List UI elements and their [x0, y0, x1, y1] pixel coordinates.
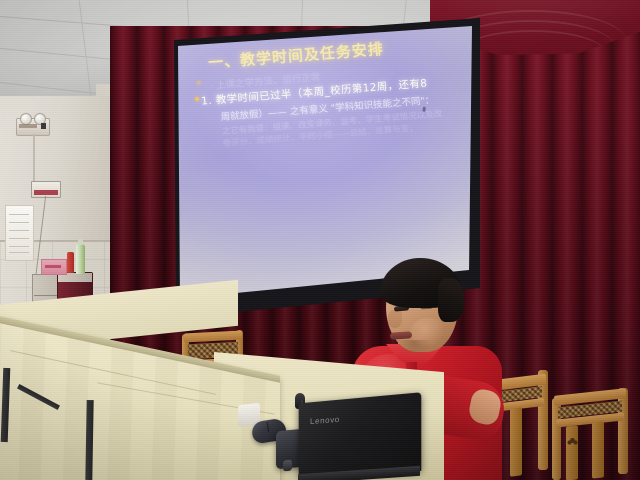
laptop-lid	[299, 392, 422, 477]
laptop[interactable]: Lenovo	[296, 398, 420, 480]
chair-clover-cutout-icon	[570, 438, 575, 443]
chair-right-far[interactable]	[552, 388, 630, 480]
classroom-photo-scene: 一、教学时间及任务安排 · 上课之学方法、运行正常 1. 教学时间已过半（本周_…	[0, 0, 640, 480]
green-bottle	[76, 244, 85, 274]
chin-shadow	[392, 340, 436, 354]
electrical-conduit	[33, 134, 35, 184]
slide-bullet-icon	[195, 97, 199, 101]
notice-paper	[5, 205, 34, 261]
table-leg	[85, 400, 93, 480]
emergency-light-label	[19, 124, 37, 128]
emergency-light-switch[interactable]	[41, 123, 46, 129]
nose	[388, 310, 402, 328]
slide-bullet-icon	[197, 81, 201, 85]
hair-side	[438, 278, 464, 322]
pink-box	[41, 259, 67, 275]
microphone-knob[interactable]	[283, 460, 292, 472]
red-bottle	[67, 252, 74, 273]
